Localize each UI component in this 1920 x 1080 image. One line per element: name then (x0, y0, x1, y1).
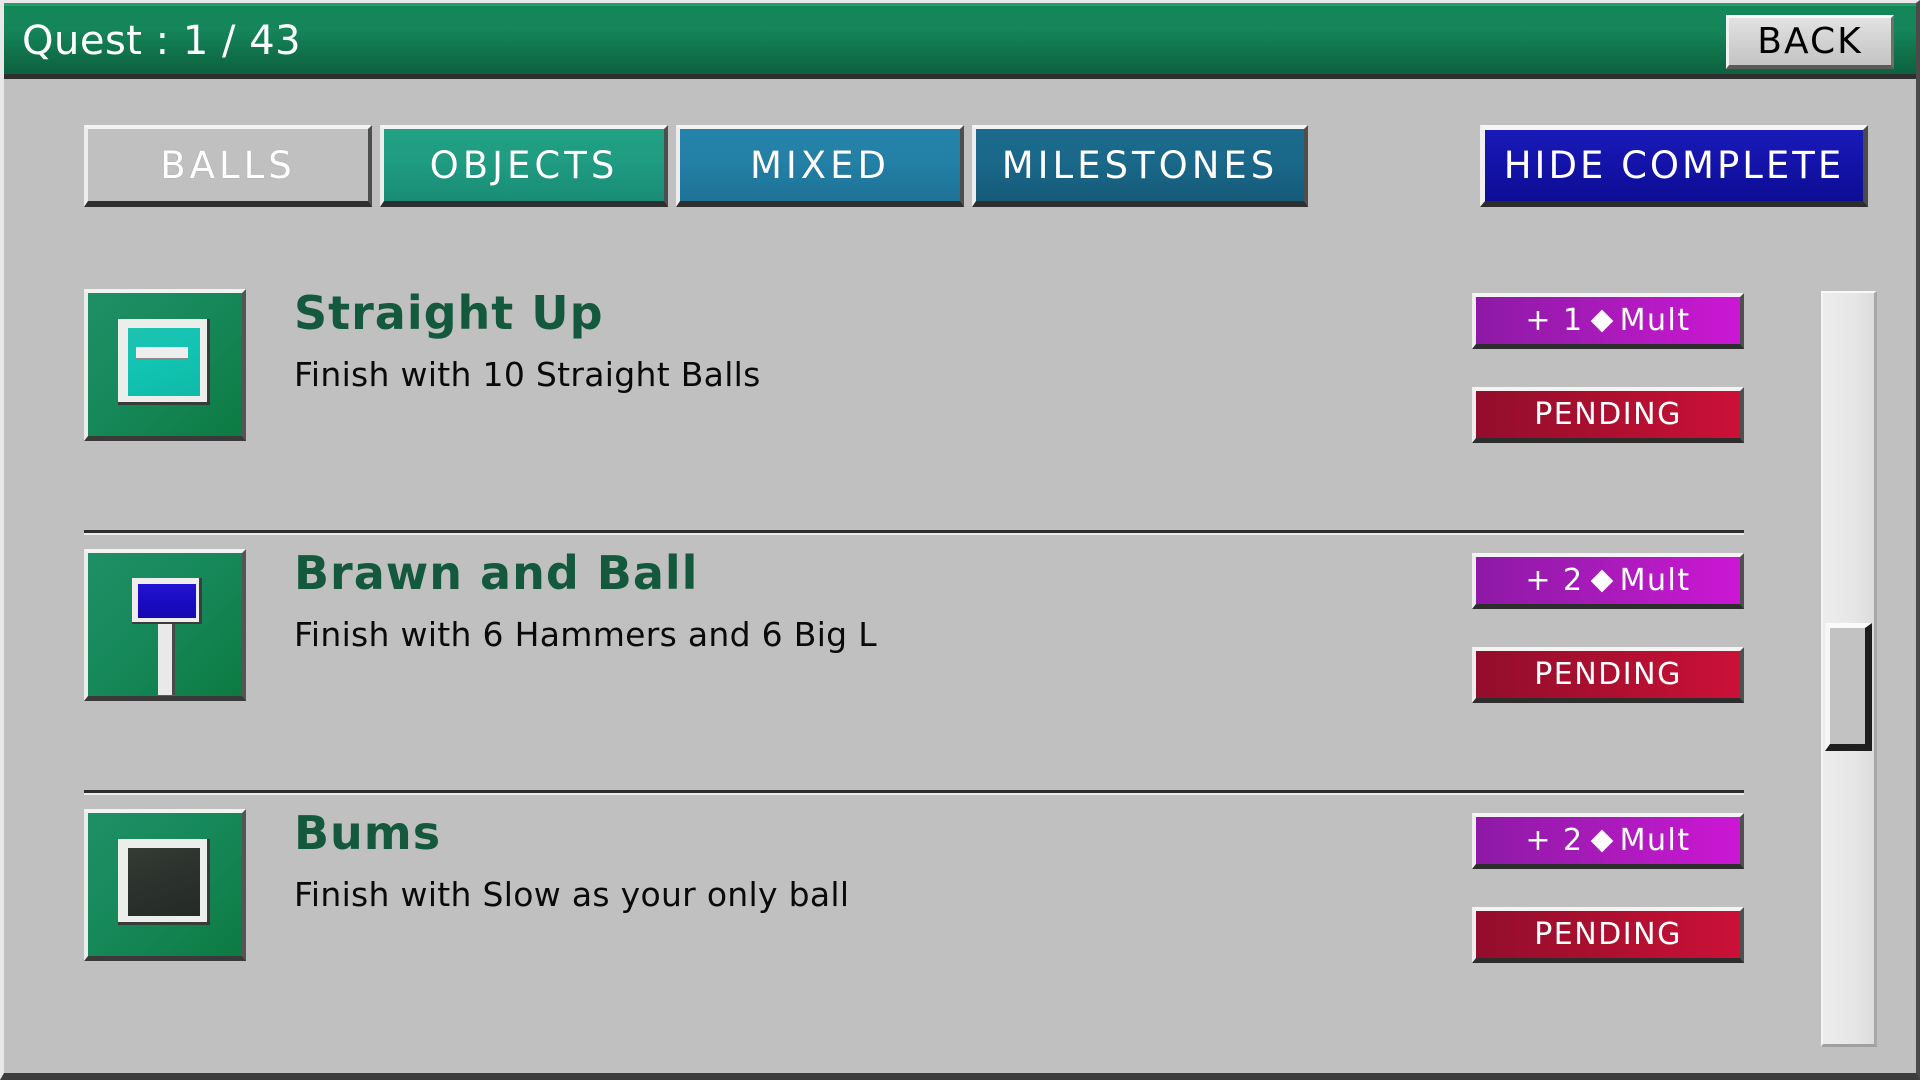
hide-complete-button[interactable]: HIDE COMPLETE (1480, 125, 1868, 207)
back-button[interactable]: BACK (1726, 15, 1894, 69)
quest-text-block: Brawn and Ball Finish with 6 Hammers and… (294, 545, 1494, 654)
diamond-icon (1590, 309, 1613, 332)
reward-badge: + 1 Mult (1472, 293, 1744, 349)
quest-list: Straight Up Finish with 10 Straight Ball… (4, 275, 1794, 1065)
quest-text-block: Bums Finish with Slow as your only ball (294, 805, 1494, 914)
reward-amount: + 1 (1525, 303, 1583, 338)
reward-badge: + 2 Mult (1472, 553, 1744, 609)
reward-amount: + 2 (1525, 563, 1583, 598)
hammer-icon (88, 553, 242, 696)
quest-icon-tile (84, 289, 246, 441)
status-badge: PENDING (1472, 907, 1744, 963)
quest-screen: Quest : 1 / 43 BACK BALLS OBJECTS MIXED … (0, 0, 1920, 1080)
quest-description: Finish with Slow as your only ball (294, 875, 1494, 915)
category-tab-row: BALLS OBJECTS MIXED MILESTONES HIDE COMP… (4, 125, 1916, 211)
quest-icon-tile (84, 549, 246, 701)
status-badge: PENDING (1472, 647, 1744, 703)
quest-icon-tile (84, 809, 246, 961)
quest-list-scrollbar[interactable] (1821, 291, 1877, 1047)
header-bar: Quest : 1 / 43 BACK (4, 3, 1916, 79)
reward-type: Mult (1620, 563, 1691, 598)
tab-milestones[interactable]: MILESTONES (972, 125, 1308, 207)
quest-description: Finish with 6 Hammers and 6 Big L (294, 615, 1494, 655)
quest-description: Finish with 10 Straight Balls (294, 355, 1494, 395)
diamond-icon (1590, 829, 1613, 852)
quest-title: Straight Up (294, 285, 1494, 343)
tab-mixed[interactable]: MIXED (676, 125, 964, 207)
tab-balls[interactable]: BALLS (84, 125, 372, 207)
quest-text-block: Straight Up Finish with 10 Straight Ball… (294, 285, 1494, 394)
quest-counter-label: Quest : 1 / 43 (22, 18, 301, 64)
reward-badge: + 2 Mult (1472, 813, 1744, 869)
diamond-icon (1590, 569, 1613, 592)
quest-row[interactable]: Straight Up Finish with 10 Straight Ball… (84, 275, 1744, 535)
reward-type: Mult (1620, 303, 1691, 338)
status-badge: PENDING (1472, 387, 1744, 443)
reward-type: Mult (1620, 823, 1691, 858)
quest-title: Brawn and Ball (294, 545, 1494, 603)
quest-title: Bums (294, 805, 1494, 863)
tab-objects[interactable]: OBJECTS (380, 125, 668, 207)
scrollbar-thumb[interactable] (1825, 623, 1872, 751)
slow-ball-icon (88, 813, 242, 956)
quest-row[interactable]: Brawn and Ball Finish with 6 Hammers and… (84, 535, 1744, 795)
reward-amount: + 2 (1525, 823, 1583, 858)
straight-ball-icon (88, 293, 242, 436)
quest-row[interactable]: Bums Finish with Slow as your only ball … (84, 795, 1744, 1055)
